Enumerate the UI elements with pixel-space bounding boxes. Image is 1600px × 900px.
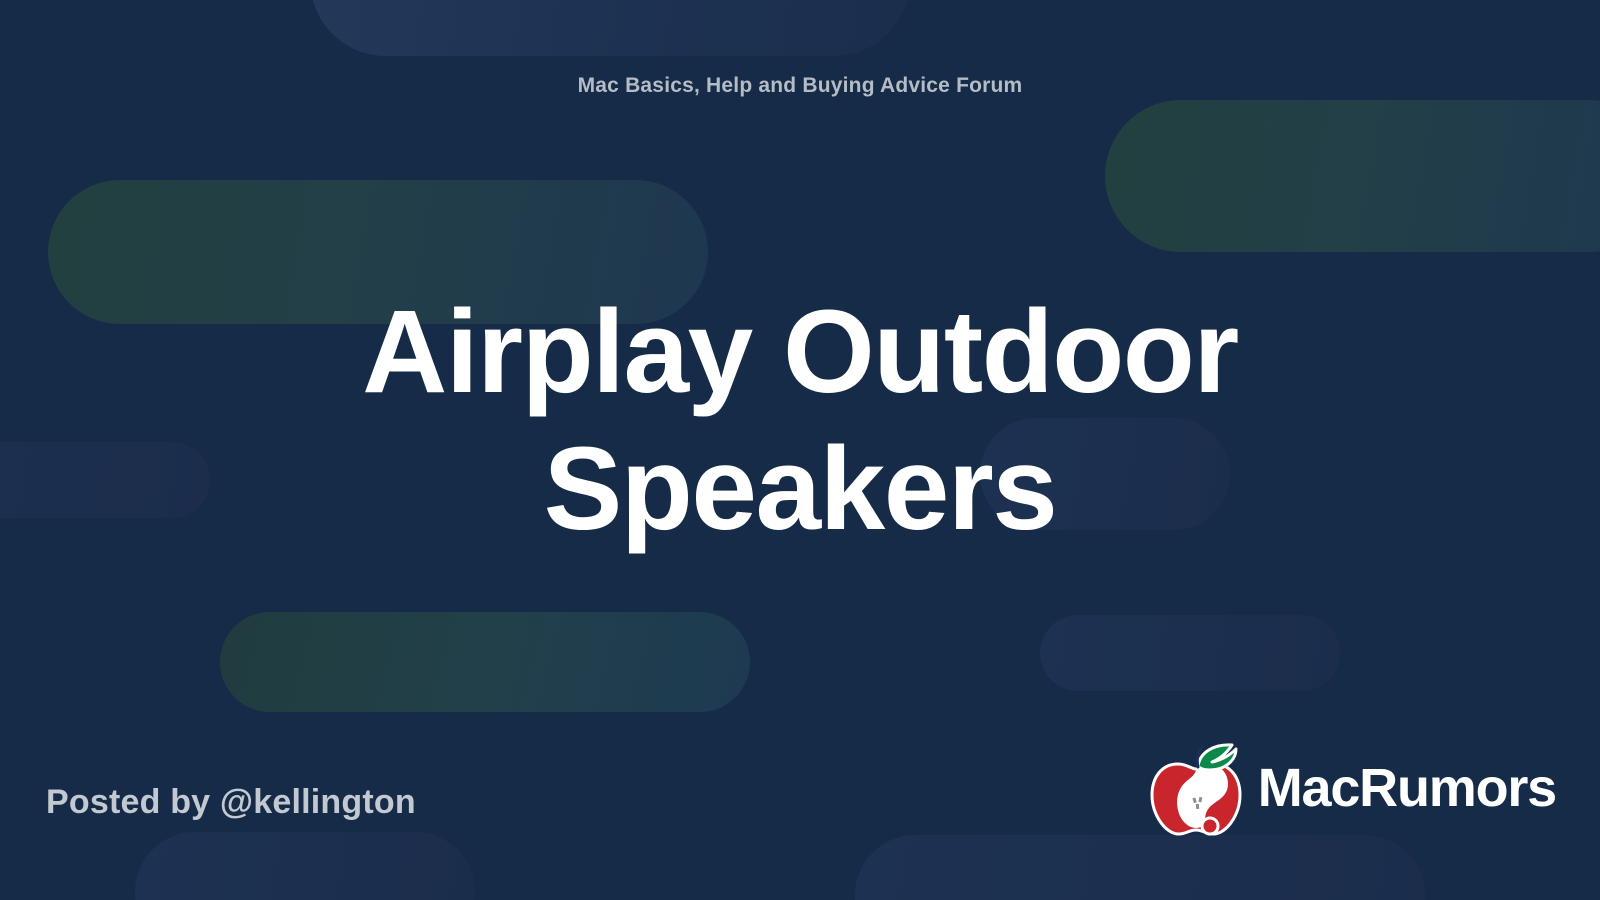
bubble-lower-left — [220, 612, 750, 712]
page-title-line-2: Speakers — [150, 421, 1450, 558]
posted-by-label: Posted by @kellington — [46, 783, 416, 822]
bubble-top-right — [1105, 100, 1600, 252]
page-title: Airplay Outdoor Speakers — [150, 284, 1450, 558]
bubble-lower-right — [1040, 615, 1340, 691]
macrumors-share-card: Mac Basics, Help and Buying Advice Forum… — [0, 0, 1600, 900]
bubble-top-center — [310, 0, 910, 56]
bubble-bottom-right — [855, 835, 1425, 900]
forum-label: Mac Basics, Help and Buying Advice Forum — [0, 74, 1600, 98]
bubble-bottom-left — [135, 832, 475, 900]
macrumors-logo: MacRumors — [1148, 742, 1556, 838]
page-title-line-1: Airplay Outdoor — [150, 284, 1450, 421]
macrumors-apple-icon — [1148, 742, 1252, 838]
macrumors-wordmark: MacRumors — [1258, 761, 1556, 819]
